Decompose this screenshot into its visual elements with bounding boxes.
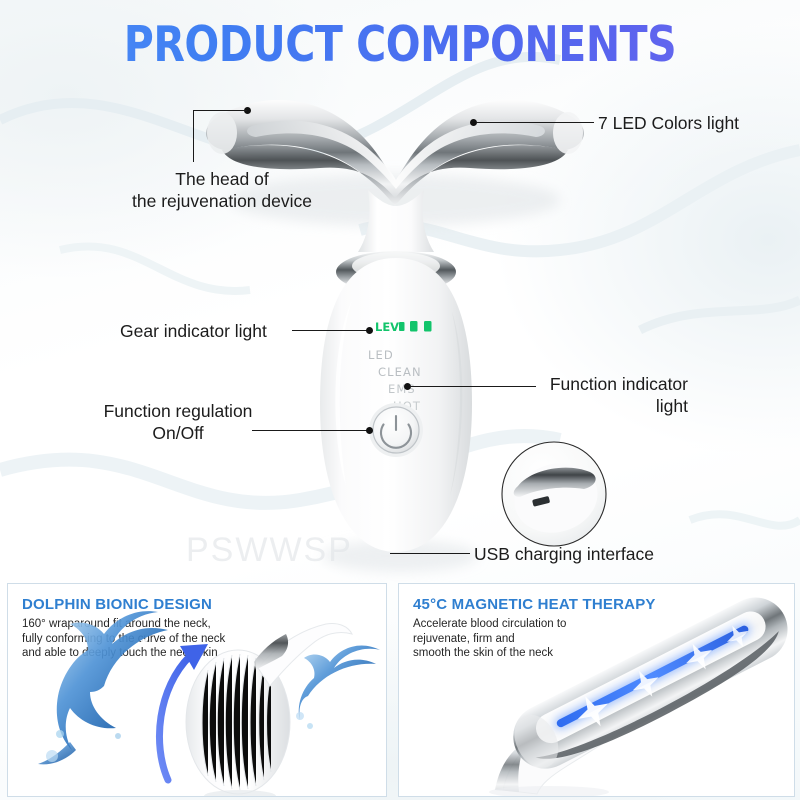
panel-magnetic-heat-therapy: 45°C MAGNETIC HEAT THERAPY Accelerate bl… [398,583,795,797]
leader-dot-function-regulation [366,427,373,434]
level-arrow [399,322,405,331]
callout-usb-charging: USB charging interface [474,543,654,565]
usb-charging-inset [502,442,606,546]
leader-line-function-regulation [252,430,368,431]
level-bar-2 [424,321,432,332]
mode-label-led: LED [368,348,394,362]
level-bar-1 [410,321,418,332]
product-device-illustration: LEV LED CLEAN EMS HOT [0,0,800,600]
mode-label-ems: EMS [388,382,416,396]
leader-line-gear [292,330,369,331]
level-label: LEV [375,320,399,334]
heat-therapy-illustration [399,584,794,796]
heat-device-head [502,586,794,782]
callout-function-indicator: Function indicator light [540,373,688,417]
callout-led-colors: 7 LED Colors light [598,112,739,134]
power-button[interactable] [369,403,423,457]
callout-function-regulation: Function regulation On/Off [88,400,268,444]
head-right-cap [553,112,583,154]
leader-line-usb [390,553,470,554]
mode-label-clean: CLEAN [378,365,422,379]
callout-gear-indicator: Gear indicator light [120,320,267,342]
leader-line-head-h [193,110,247,111]
leader-line-function-indicator [410,386,536,387]
panel-dolphin-bionic-design: DOLPHIN BIONIC DESIGN 160° wraparound fi… [7,583,387,797]
device-ribbed-body [186,623,352,796]
dolphin-large-icon [38,611,168,764]
callout-head-device: The head of the rejuvenation device [132,168,312,212]
leader-line-head-v [193,110,194,162]
leader-line-led-colors [476,122,594,123]
dolphin-right-icon [296,646,380,729]
infographic-canvas: PRODUCT COMPONENTS PSWWSP [0,0,800,800]
head-left-cap [207,112,237,154]
leader-dot-gear [366,327,373,334]
dolphin-illustration [8,584,386,796]
